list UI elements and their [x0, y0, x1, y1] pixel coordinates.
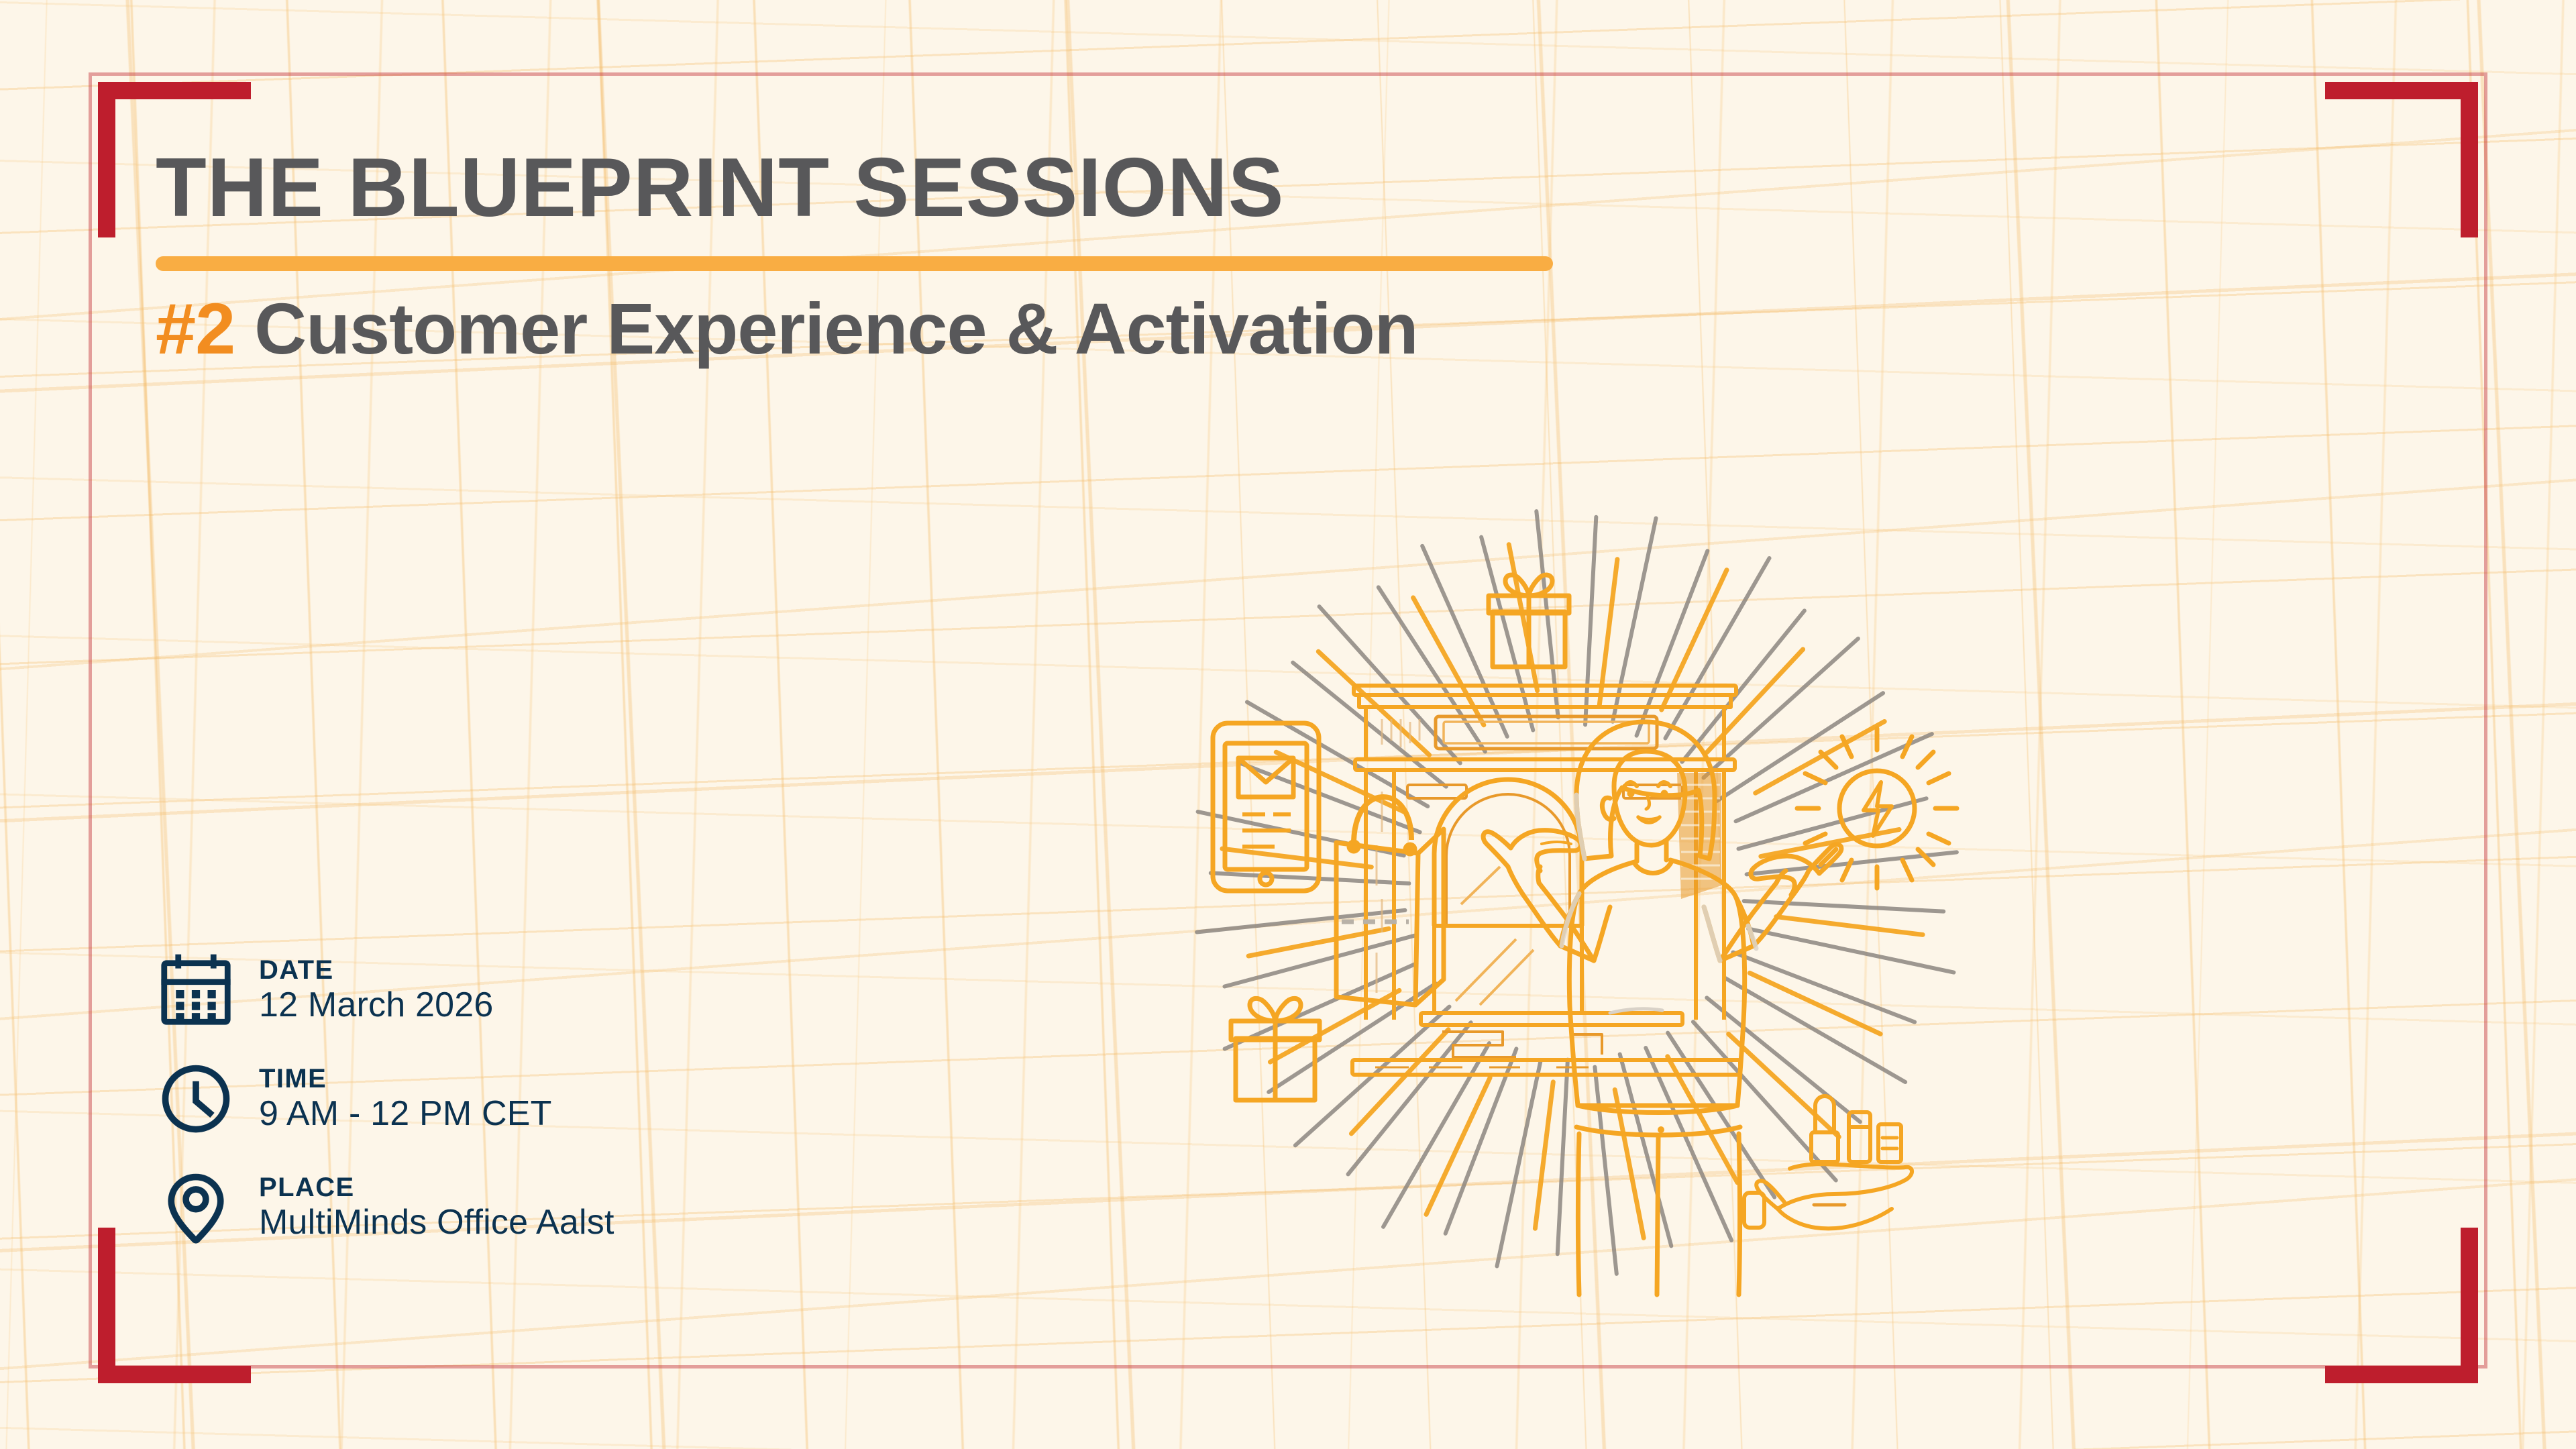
detail-label-date: DATE	[259, 956, 494, 984]
detail-text-date: DATE 12 March 2026	[259, 956, 494, 1024]
sun-lightning-icon	[1797, 729, 1957, 888]
session-title: Customer Experience & Activation	[254, 288, 1418, 369]
session-subtitle: #2 Customer Experience & Activation	[156, 288, 1418, 370]
clock-icon	[158, 1061, 233, 1136]
detail-value-time: 9 AM - 12 PM CET	[259, 1094, 552, 1133]
detail-row-time: TIME 9 AM - 12 PM CET	[158, 1061, 614, 1136]
session-number: #2	[156, 288, 235, 369]
detail-row-place: PLACE MultiMinds Office Aalst	[158, 1170, 614, 1245]
detail-value-place: MultiMinds Office Aalst	[259, 1203, 614, 1242]
detail-text-time: TIME 9 AM - 12 PM CET	[259, 1065, 552, 1133]
detail-label-time: TIME	[259, 1065, 552, 1093]
detail-value-date: 12 March 2026	[259, 985, 494, 1024]
location-pin-icon	[158, 1170, 233, 1245]
detail-text-place: PLACE MultiMinds Office Aalst	[259, 1173, 614, 1242]
hand-with-products-icon	[1744, 1096, 1912, 1228]
page-title: THE BLUEPRINT SESSIONS	[156, 146, 1284, 229]
detail-label-place: PLACE	[259, 1173, 614, 1201]
illustration-svg	[1140, 456, 2012, 1328]
event-details-list: DATE 12 March 2026 TIME 9 AM - 12 PM CET	[158, 953, 614, 1245]
gift-box-top-icon	[1489, 575, 1569, 667]
phone-email-icon	[1213, 723, 1319, 891]
customer-experience-illustration	[1140, 456, 2012, 1328]
session-title-spacer	[235, 288, 254, 369]
poster-content: THE BLUEPRINT SESSIONS #2 Customer Exper…	[0, 0, 2576, 1449]
storefront-building	[1352, 686, 1740, 1075]
title-divider-rule	[156, 256, 1553, 271]
detail-row-date: DATE 12 March 2026	[158, 953, 614, 1028]
calendar-icon	[158, 953, 233, 1028]
